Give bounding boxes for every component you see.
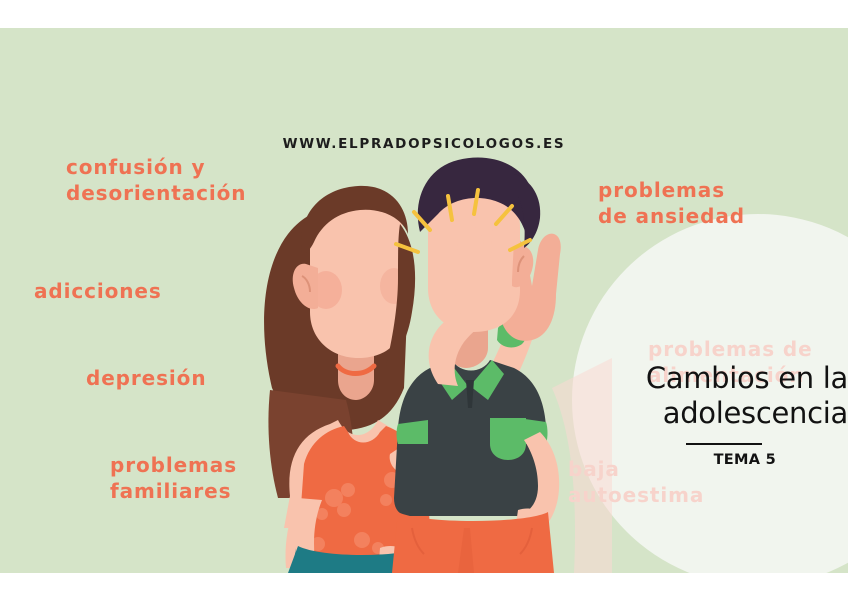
title-block: Cambios en la adolescencia TEMA 5 — [600, 361, 848, 468]
keyword-depresion: depresión — [86, 365, 206, 391]
keyword-confusion: confusión y desorientación — [66, 154, 246, 207]
keyword-problemas-de-ansiedad: problemas de ansiedad — [598, 177, 745, 230]
page-title: Cambios en la adolescencia — [600, 361, 848, 432]
poster-canvas: confusión y desorientación adicciones de… — [0, 0, 848, 599]
keyword-adicciones: adicciones — [34, 278, 162, 304]
title-divider — [686, 443, 762, 445]
green-background-band: confusión y desorientación adicciones de… — [0, 28, 848, 573]
keyword-problemas-familiares: problemas familiares — [110, 452, 237, 505]
title-subtitle: TEMA 5 — [600, 452, 776, 468]
teenagers-high-five-illustration — [252, 28, 612, 573]
